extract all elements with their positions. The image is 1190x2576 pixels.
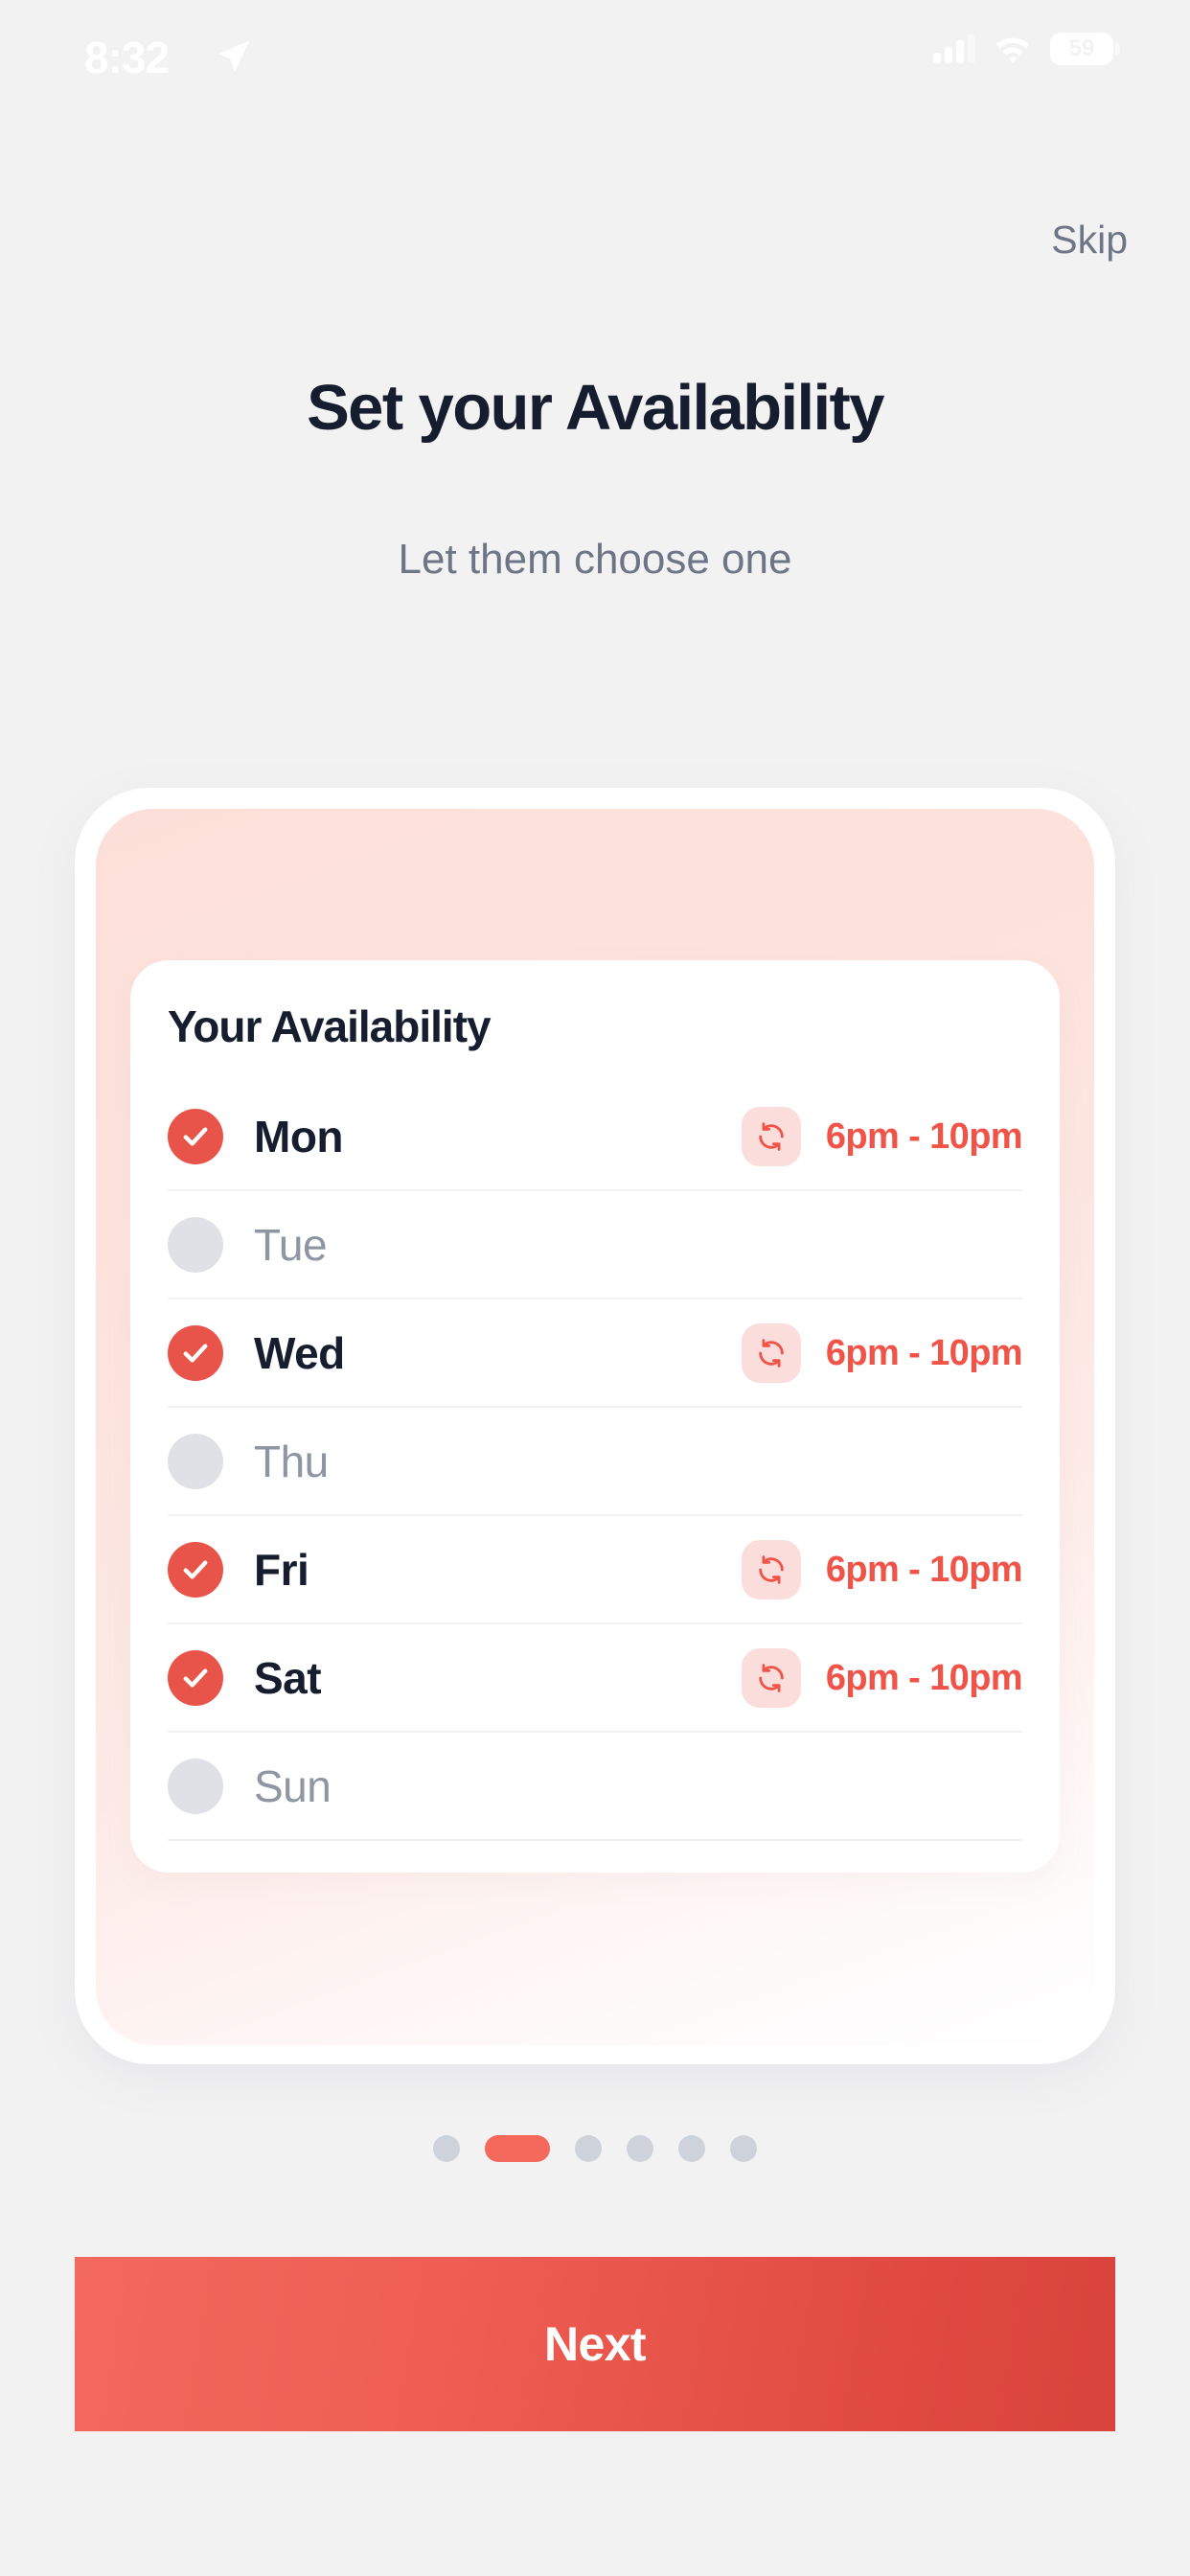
availability-row[interactable]: Fri6pm - 10pm: [168, 1516, 1022, 1624]
availability-row[interactable]: Wed6pm - 10pm: [168, 1299, 1022, 1408]
time-slot[interactable]: 6pm - 10pm: [742, 1107, 1022, 1166]
pagination-dot[interactable]: [627, 2135, 653, 2162]
availability-row[interactable]: Sun: [168, 1733, 1022, 1841]
page-subtitle: Let them choose one: [0, 533, 1190, 586]
location-arrow-icon: [213, 34, 255, 79]
pagination-dot[interactable]: [730, 2135, 757, 2162]
time-slot[interactable]: 6pm - 10pm: [742, 1648, 1022, 1708]
availability-row[interactable]: Mon6pm - 10pm: [168, 1083, 1022, 1191]
onboarding-screen: 8:32 59 Skip Set your Availability Let t…: [0, 0, 1190, 2576]
checkbox-checked-icon[interactable]: [168, 1650, 223, 1706]
day-label: Thu: [254, 1434, 329, 1489]
checkbox-checked-icon[interactable]: [168, 1325, 223, 1381]
checkbox-unchecked-icon[interactable]: [168, 1759, 223, 1814]
pagination-dot[interactable]: [678, 2135, 705, 2162]
day-label: Sun: [254, 1759, 331, 1814]
time-slot[interactable]: 6pm - 10pm: [742, 1540, 1022, 1599]
availability-card: Your Availability Mon6pm - 10pmTueWed6pm…: [130, 960, 1060, 1873]
battery-level-label: 59: [1069, 37, 1095, 60]
status-bar: 8:32 59: [0, 0, 1190, 115]
time-range-label: 6pm - 10pm: [826, 1547, 1022, 1593]
time-range-label: 6pm - 10pm: [826, 1330, 1022, 1376]
cellular-signal-icon: [933, 34, 975, 63]
wifi-icon: [993, 34, 1033, 63]
repeat-icon[interactable]: [742, 1540, 801, 1599]
checkbox-checked-icon[interactable]: [168, 1542, 223, 1598]
availability-row[interactable]: Tue: [168, 1191, 1022, 1299]
pagination-dot-active[interactable]: [485, 2135, 550, 2162]
day-label: Fri: [254, 1542, 309, 1598]
day-label: Tue: [254, 1217, 327, 1273]
checkbox-unchecked-icon[interactable]: [168, 1217, 223, 1273]
pagination-dot[interactable]: [433, 2135, 460, 2162]
status-bar-time: 8:32: [84, 31, 169, 84]
availability-row[interactable]: Sat6pm - 10pm: [168, 1624, 1022, 1733]
checkbox-checked-icon[interactable]: [168, 1109, 223, 1164]
availability-row-list: Mon6pm - 10pmTueWed6pm - 10pmThuFri6pm -…: [168, 1083, 1022, 1841]
repeat-icon[interactable]: [742, 1648, 801, 1708]
next-button[interactable]: Next: [75, 2257, 1115, 2431]
skip-button[interactable]: Skip: [1051, 216, 1128, 264]
checkbox-unchecked-icon[interactable]: [168, 1434, 223, 1489]
day-label: Sat: [254, 1650, 321, 1706]
pagination-dot[interactable]: [575, 2135, 602, 2162]
next-button-label: Next: [544, 2314, 646, 2374]
time-range-label: 6pm - 10pm: [826, 1655, 1022, 1701]
availability-card-title: Your Availability: [168, 999, 491, 1054]
status-bar-indicators: 59: [933, 33, 1113, 65]
battery-icon: 59: [1050, 33, 1113, 65]
pagination-dots[interactable]: [0, 2135, 1190, 2162]
time-slot[interactable]: 6pm - 10pm: [742, 1323, 1022, 1383]
day-label: Wed: [254, 1325, 345, 1381]
day-label: Mon: [254, 1109, 343, 1164]
time-range-label: 6pm - 10pm: [826, 1114, 1022, 1160]
repeat-icon[interactable]: [742, 1323, 801, 1383]
page-title: Set your Availability: [0, 368, 1190, 448]
repeat-icon[interactable]: [742, 1107, 801, 1166]
availability-row[interactable]: Thu: [168, 1408, 1022, 1516]
